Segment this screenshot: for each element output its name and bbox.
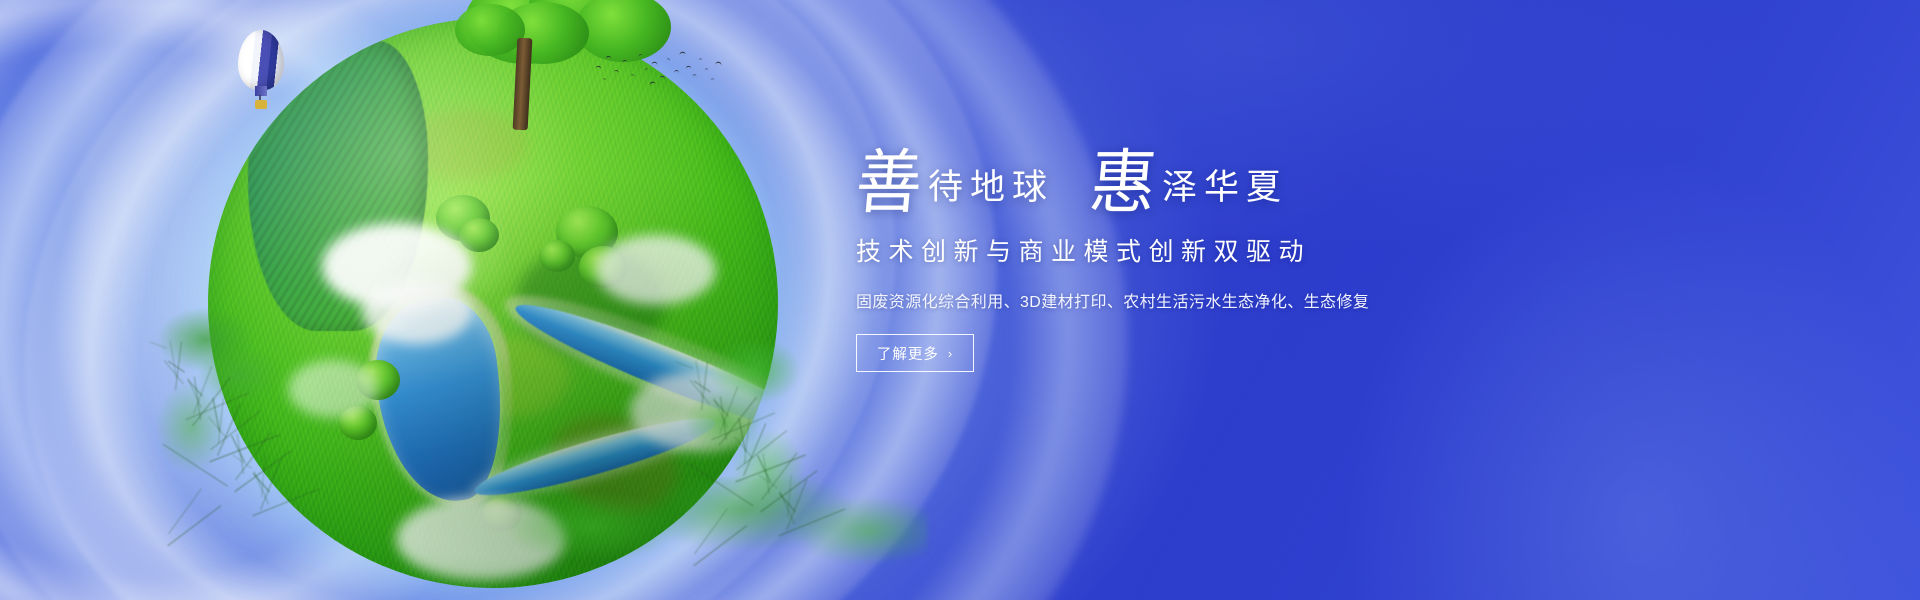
headline-text-zehuaxia: 泽华夏 [1162,171,1288,206]
bird-icon [595,65,601,69]
birds-flock-icon [592,48,722,94]
bird-icon [649,81,656,86]
hero-banner: 善 待地球 惠 泽华夏 技术创新与商业模式创新双驱动 固废资源化综合利用、3D建… [0,0,1920,600]
headline-char-hui: 惠 [1087,148,1159,218]
bird-icon [622,60,627,64]
page-description: 固废资源化综合利用、3D建材打印、农村生活污水生态净化、生态修复 [856,288,1496,312]
bird-icon [679,51,686,55]
page-title: 善 待地球 惠 泽华夏 [856,126,1496,212]
tree-branch [150,341,167,348]
bird-icon [614,69,619,73]
right-side-tree [672,320,822,550]
chevron-right-icon: › [948,346,953,361]
bird-icon [692,74,696,77]
learn-more-button[interactable]: 了解更多 › [856,334,974,372]
balloon-neck [255,86,267,96]
headline-text-daidiqiu: 待地球 [928,171,1054,206]
bird-icon [699,58,703,60]
hot-air-balloon-icon [238,30,284,116]
bird-icon [606,56,612,60]
bird-icon [645,68,649,71]
balloon-basket [255,100,267,109]
bird-icon [638,54,643,58]
bird-icon [630,74,634,77]
bird-icon [711,78,715,80]
page-subtitle: 技术创新与商业模式创新双驱动 [856,232,1496,268]
hero-content: 善 待地球 惠 泽华夏 技术创新与商业模式创新双驱动 固废资源化综合利用、3D建… [856,126,1496,372]
balloon-envelope [238,30,284,90]
left-side-tree [146,300,296,520]
tree-branch [676,361,693,368]
bird-icon [603,78,607,81]
tree-branch [694,508,728,554]
bird-icon [651,62,657,66]
bird-icon [705,68,709,70]
bird-icon [715,61,722,66]
tree-canopy [455,4,525,56]
learn-more-label: 了解更多 [877,343,939,364]
bird-icon [659,75,665,80]
bird-icon [667,58,671,61]
bird-icon [686,66,692,70]
headline-char-shan: 善 [853,148,925,218]
bird-icon [674,70,679,73]
